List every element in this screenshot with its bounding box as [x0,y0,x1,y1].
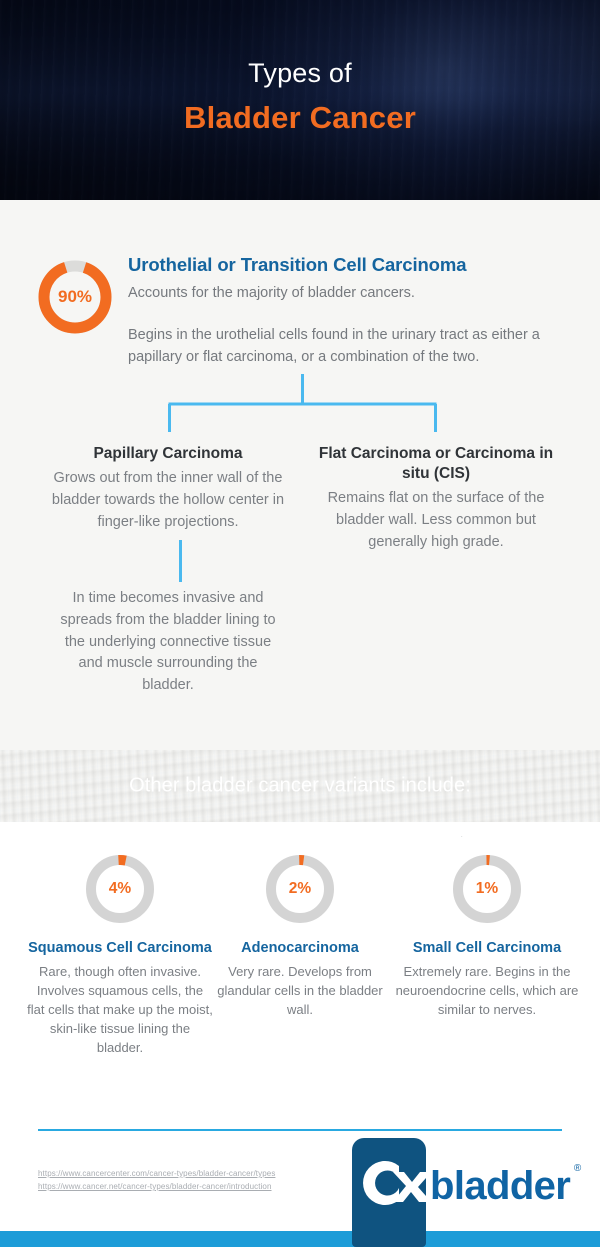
branch-papillary-extra: In time becomes invasive and spreads fro… [52,588,284,697]
variant-adenocarcinoma-title: Adenocarcinoma [207,939,393,958]
branch-connector-svg [0,374,600,436]
branch-flat-cis: Flat Carcinoma or Carcinoma in situ (CIS… [306,444,566,554]
variant-squamous-cell: 4% Squamous Cell Carcinoma Rare, though … [27,852,213,1058]
logo-wordmark-wrap: bladder ® [430,1166,570,1206]
donut-chart-90: 90% [36,258,114,336]
variant-adenocarcinoma-body: Very rare. Develops from glandular cells… [207,962,393,1020]
footer-bottom-bar [0,1231,600,1247]
donut-1-value: 1% [450,852,524,926]
variants-band-title: Other bladder cancer variants include: [0,775,600,798]
hero-title-line1: Types of [0,58,600,89]
variant-squamous-cell-body: Rare, though often invasive. Involves sq… [27,962,213,1058]
branch-papillary-body: Grows out from the inner wall of the bla… [38,468,298,533]
donut-2-value: 2% [263,852,337,926]
branch-papillary: Papillary Carcinoma Grows out from the i… [38,444,298,533]
variant-small-cell: LESS THAN 1% Small Cell Carcinoma Extrem… [394,852,580,1019]
donut-chart-4: 4% [83,852,157,926]
hero-title-line2: Bladder Cancer [0,100,600,136]
donut-90-value: 90% [36,258,114,336]
footer-divider [38,1129,562,1131]
branch-flat-cis-body: Remains flat on the surface of the bladd… [306,488,566,553]
lead-body-text: Begins in the urothelial cells found in … [128,325,560,369]
lead-heading: Urothelial or Transition Cell Carcinoma [128,254,466,276]
branch-papillary-title: Papillary Carcinoma [38,444,298,464]
footer: https://www.cancercenter.com/cancer-type… [0,1112,600,1247]
registered-trademark-icon: ® [574,1164,581,1174]
donut-chart-1: LESS THAN 1% [450,852,524,926]
hero-title-block: Types of Bladder Cancer [0,58,600,136]
variant-small-cell-body: Extremely rare. Begins in the neuroendoc… [394,962,580,1020]
hero-banner: Types of Bladder Cancer [0,0,600,200]
variants-band: Other bladder cancer variants include: [0,750,600,822]
logo-mark-square [352,1138,426,1247]
variant-adenocarcinoma: 2% Adenocarcinoma Very rare. Develops fr… [207,852,393,1019]
variants-section: 4% Squamous Cell Carcinoma Rare, though … [0,822,600,1112]
donut-4-value: 4% [83,852,157,926]
infographic-page: Types of Bladder Cancer 90% Urothelial o… [0,0,600,1247]
branch-tail-connector [179,540,182,582]
branch-connector [0,374,600,436]
logo-wordmark: bladder [430,1164,570,1208]
donut-chart-2: 2% [263,852,337,926]
branch-flat-cis-title: Flat Carcinoma or Carcinoma in situ (CIS… [306,444,566,484]
source-link-1[interactable]: https://www.cancercenter.com/cancer-type… [38,1168,275,1181]
source-links: https://www.cancercenter.com/cancer-type… [38,1168,275,1194]
variant-small-cell-title: Small Cell Carcinoma [394,939,580,958]
source-link-2[interactable]: https://www.cancer.net/cancer-types/blad… [38,1181,275,1194]
logo-cx-icon [352,1138,426,1247]
lead-subheading: Accounts for the majority of bladder can… [128,285,415,301]
variant-squamous-cell-title: Squamous Cell Carcinoma [27,939,213,958]
less-than-text: LESS THAN [457,836,517,838]
